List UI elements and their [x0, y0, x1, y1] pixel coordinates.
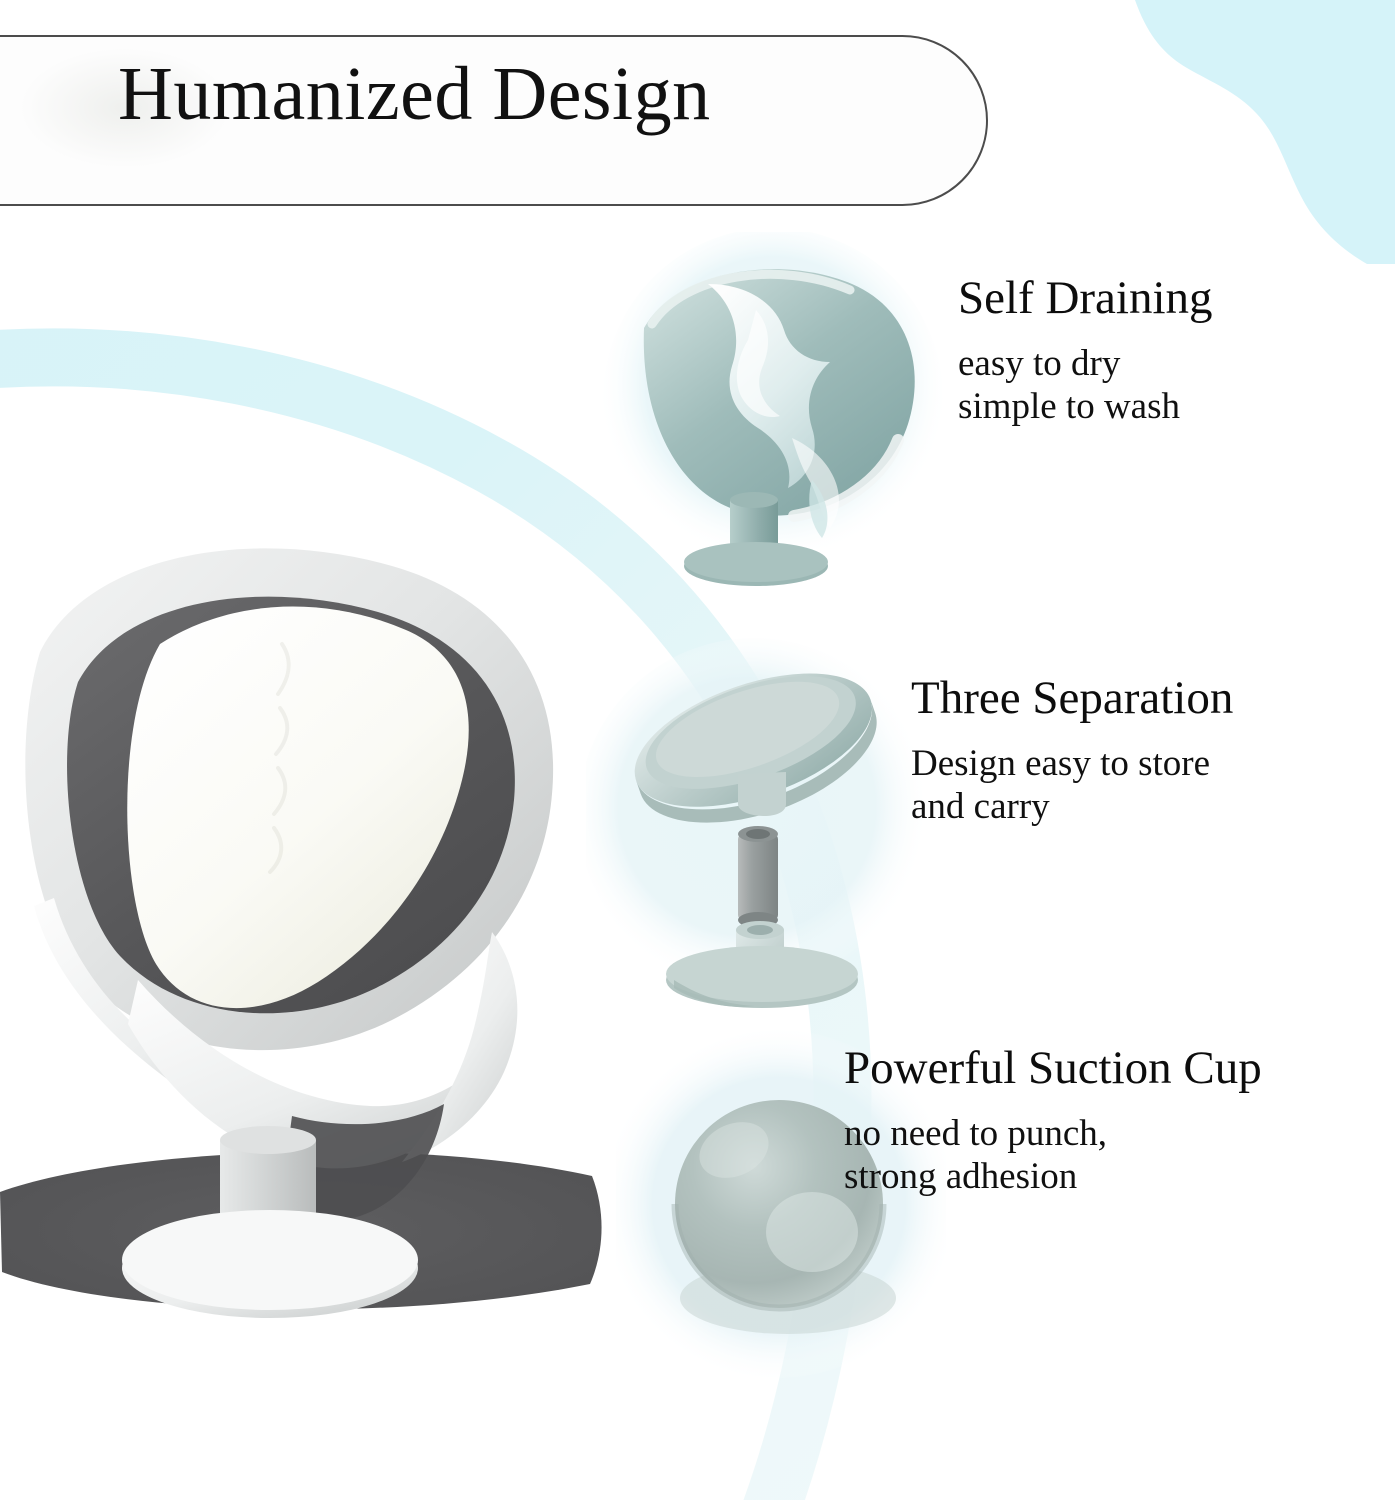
feature-title: Self Draining	[958, 274, 1213, 324]
feature-title: Three Separation	[911, 674, 1233, 724]
feature-subtitle: Design easy to store and carry	[911, 742, 1233, 829]
feature-copy-powerful-suction-cup: Powerful Suction Cup no need to punch, s…	[844, 1044, 1262, 1198]
feature-row-three-separation: Three Separation Design easy to store an…	[586, 622, 1386, 1012]
feature-row-self-draining: Self Draining easy to dry simple to wash	[596, 232, 1386, 592]
feature-copy-self-draining: Self Draining easy to dry simple to wash	[958, 274, 1213, 428]
corner-accent-shape	[1071, 0, 1395, 264]
soap-dish-water-draining-thumbnail	[596, 232, 950, 592]
feature-title: Powerful Suction Cup	[844, 1044, 1262, 1094]
soap-dish-exploded-parts-thumbnail	[586, 622, 930, 1012]
feature-row-powerful-suction-cup: Powerful Suction Cup no need to punch, s…	[616, 1018, 1395, 1388]
page-title: Humanized Design	[118, 56, 711, 132]
product-infographic-page: Humanized Design	[0, 0, 1395, 1500]
hero-product-image	[0, 512, 632, 1342]
feature-copy-three-separation: Three Separation Design easy to store an…	[911, 674, 1233, 828]
feature-subtitle: easy to dry simple to wash	[958, 342, 1213, 429]
feature-subtitle: no need to punch, strong adhesion	[844, 1112, 1262, 1199]
